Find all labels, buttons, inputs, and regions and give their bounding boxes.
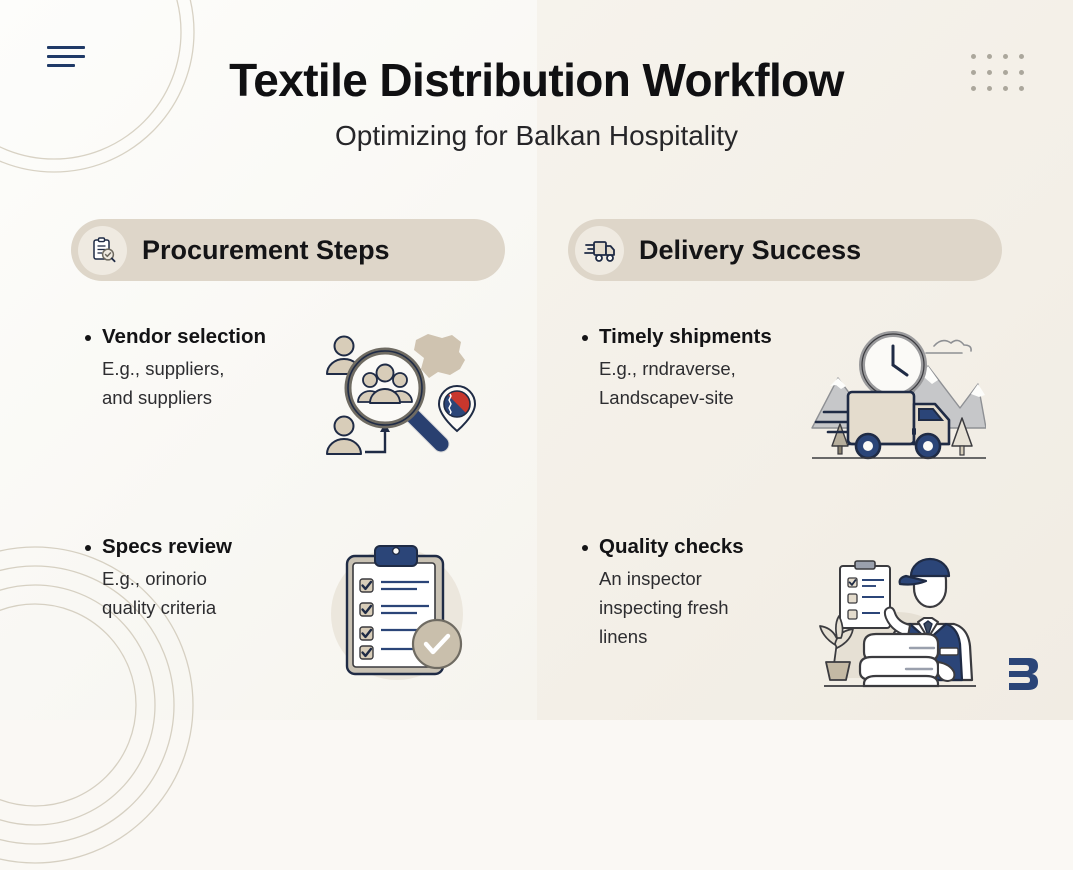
brand-logo[interactable] [1001,652,1045,696]
list-item-title: Quality checks [599,534,744,560]
header: Textile Distribution Workflow Optimizing… [0,56,1073,152]
section-title-procurement: Procurement Steps [142,235,390,266]
bullet-dot-icon [582,335,588,341]
list-item: Quality checks An inspector inspecting f… [568,532,1002,692]
bullet-dot-icon [582,545,588,551]
truck-clock-mountains-icon [810,322,986,472]
inspector-linens-icon [810,532,986,692]
page-subtitle: Optimizing for Balkan Hospitality [0,120,1073,152]
list-item-description: E.g., rndraverse, Landscapev-site [599,355,814,412]
column-procurement: Procurement Steps Vendor selection E.g.,… [71,219,505,692]
section-title-delivery: Delivery Success [639,235,861,266]
list-item-description: An inspector inspecting fresh linens [599,565,814,651]
list-item: Vendor selection E.g., suppliers, and su… [71,322,505,472]
list-item-title: Vendor selection [102,324,266,350]
slide-canvas: Textile Distribution Workflow Optimizing… [0,0,1073,720]
list-item-title: Specs review [102,534,232,560]
column-delivery: Delivery Success Timely shipments E.g., … [568,219,1002,692]
list-item-title: Timely shipments [599,324,772,350]
clipboard-search-icon [78,226,127,275]
clipboard-checklist-icon [313,532,489,692]
magnifier-people-map-icon [313,322,489,472]
page-title: Textile Distribution Workflow [0,56,1073,104]
bullet-dot-icon [85,335,91,341]
delivery-truck-icon [575,226,624,275]
bullet-dot-icon [85,545,91,551]
list-item-description: E.g., orinorio quality criteria [102,565,317,622]
list-item: Specs review E.g., orinorio quality crit… [71,532,505,692]
list-item: Timely shipments E.g., rndraverse, Lands… [568,322,1002,472]
list-item-description: E.g., suppliers, and suppliers [102,355,317,412]
section-header-procurement[interactable]: Procurement Steps [71,219,505,281]
section-header-delivery[interactable]: Delivery Success [568,219,1002,281]
